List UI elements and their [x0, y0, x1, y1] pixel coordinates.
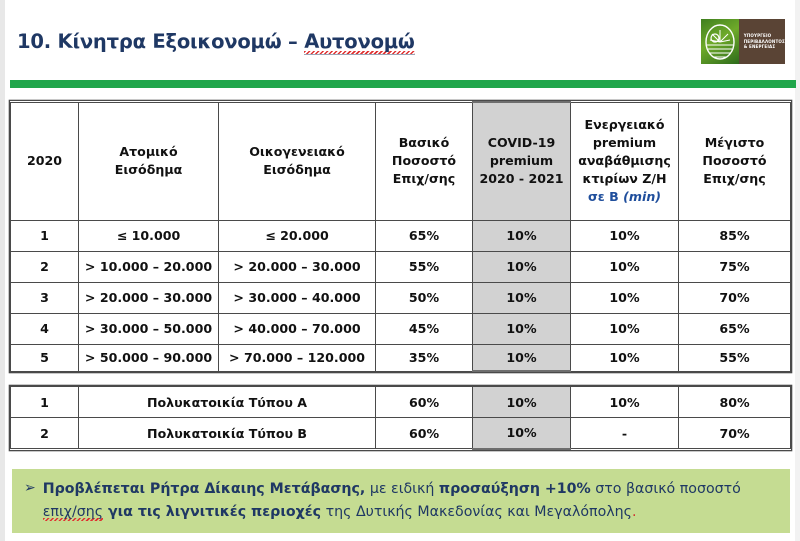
header-covid-premium-l1: COVID-19 [475, 134, 568, 152]
callout-seg-2: με ειδική [365, 481, 439, 497]
cell-individual-income: ≤ 10.000 [79, 220, 219, 251]
cell-base-rate: 35% [376, 344, 473, 371]
cell-family-income: > 40.000 – 70.000 [219, 313, 376, 344]
header-base-rate-l2: Ποσοστό [378, 152, 470, 170]
header-covid-premium-l2: premium [475, 152, 568, 170]
table-block-gap [10, 372, 790, 386]
table-row: 2 > 10.000 – 20.000 > 20.000 – 30.000 55… [11, 251, 791, 282]
ministry-logo: ΥΠΟΥΡΓΕΙΟ ΠΕΡΙΒΑΛΛΟΝΤΟΣ & ΕΝΕΡΓΕΙΑΣ [700, 18, 786, 65]
table-row: 5 > 50.000 – 90.000 > 70.000 – 120.000 3… [11, 344, 791, 371]
header-max-rate-l3: Επιχ/σης [681, 170, 788, 188]
cell-covid-premium: 10% [473, 282, 571, 313]
cell-covid-premium: 10% [473, 251, 571, 282]
header-family-income: Οικογενειακό Εισόδημα [219, 102, 376, 220]
callout-seg-8-period: . [632, 504, 637, 520]
cell-family-income: > 30.000 – 40.000 [219, 282, 376, 313]
callout-seg-7: της Δυτικής Μακεδονίας και Μεγαλόπολης [321, 504, 632, 520]
header-covid-premium-l3: 2020 - 2021 [475, 170, 568, 188]
header-base-rate-l1: Βασικό [378, 134, 470, 152]
cell-building-type: Πολυκατοικία Τύπου Α [79, 387, 376, 418]
callout-text: Προβλέπεται Ρήτρα Δίκαιης Μετάβασης, με … [43, 478, 776, 524]
header-max-rate: Μέγιστο Ποσοστό Επιχ/σης [679, 102, 791, 220]
header-covid-premium: COVID-19 premium 2020 - 2021 [473, 102, 571, 220]
emblem-svg [703, 23, 737, 61]
green-divider-bar [10, 80, 796, 88]
cell-individual-income: > 50.000 – 90.000 [79, 344, 219, 371]
cell-energy-premium: 10% [571, 251, 679, 282]
table-row: 1 ≤ 10.000 ≤ 20.000 65% 10% 10% 85% [11, 220, 791, 251]
cell-individual-income: > 10.000 – 20.000 [79, 251, 219, 282]
cell-energy-premium: - [571, 418, 679, 449]
header-energy-premium-l4: κτιρίων Ζ/Η [573, 170, 676, 188]
cell-energy-premium: 10% [571, 313, 679, 344]
callout-seg-3: προσαύξηση +10% [439, 481, 591, 497]
row-index: 2 [11, 418, 79, 449]
callout-seg-4: στο βασικό ποσοστό [591, 481, 741, 497]
cell-covid-premium: 10% [473, 387, 571, 418]
cell-energy-premium: 10% [571, 220, 679, 251]
header-year: 2020 [11, 102, 79, 220]
cell-max-rate: 80% [679, 387, 791, 418]
row-index: 3 [11, 282, 79, 313]
slide-canvas: 10. Κίνητρα Εξοικονομώ – Αυτονομώ ΥΠΟΥΡΓ… [0, 0, 800, 541]
cell-base-rate: 65% [376, 220, 473, 251]
table-header-row: 2020 Ατομικό Εισόδημα Οικογενειακό Εισόδ… [11, 102, 791, 220]
subsidy-table-wrapper: 2020 Ατομικό Εισόδημα Οικογενειακό Εισόδ… [10, 101, 790, 450]
header-energy-premium-sub-italic: (min) [623, 189, 661, 204]
header-individual-income: Ατομικό Εισόδημα [79, 102, 219, 220]
ministry-emblem-icon [701, 19, 739, 64]
cell-max-rate: 70% [679, 282, 791, 313]
row-index: 1 [11, 387, 79, 418]
header-energy-premium-sub: σε Β (min) [573, 188, 676, 206]
cell-max-rate: 55% [679, 344, 791, 371]
header-individual-income-l2: Εισόδημα [81, 161, 216, 179]
table-row: 2 Πολυκατοικία Τύπου Β 60% 10% - 70% [11, 418, 791, 449]
cell-base-rate: 60% [376, 418, 473, 449]
header-max-rate-l1: Μέγιστο [681, 134, 788, 152]
ministry-line-3: & ΕΝΕΡΓΕΙΑΣ [744, 44, 785, 50]
header-family-income-l2: Εισόδημα [221, 161, 373, 179]
cell-building-type: Πολυκατοικία Τύπου Β [79, 418, 376, 449]
cell-base-rate: 45% [376, 313, 473, 344]
callout-seg-1: Προβλέπεται Ρήτρα Δίκαιης Μετάβασης, [43, 481, 366, 497]
cell-individual-income: > 30.000 – 50.000 [79, 313, 219, 344]
header-max-rate-l2: Ποσοστό [681, 152, 788, 170]
header-energy-premium-sub-bold: σε Β [588, 189, 623, 204]
header-energy-premium: Ενεργειακό premium αναβάθμισης κτιρίων Ζ… [571, 102, 679, 220]
apartment-subsidy-table: 1 Πολυκατοικία Τύπου Α 60% 10% 10% 80% 2… [10, 386, 791, 450]
header-energy-premium-l2: premium [573, 134, 676, 152]
arrow-bullet-icon: ➢ [24, 478, 36, 500]
callout-seg-6: για τις λιγνιτικές περιοχές [103, 504, 321, 520]
header-individual-income-l1: Ατομικό [81, 143, 216, 161]
header-base-rate: Βασικό Ποσοστό Επιχ/σης [376, 102, 473, 220]
page-title-spellchecked-word: Αυτονομώ [304, 30, 414, 55]
slide-header: 10. Κίνητρα Εξοικονομώ – Αυτονομώ ΥΠΟΥΡΓ… [5, 0, 795, 80]
cell-max-rate: 85% [679, 220, 791, 251]
cell-base-rate: 55% [376, 251, 473, 282]
cell-base-rate: 60% [376, 387, 473, 418]
cell-individual-income: > 20.000 – 30.000 [79, 282, 219, 313]
cell-energy-premium: 10% [571, 282, 679, 313]
page-title-prefix: 10. Κίνητρα Εξοικονομώ – [17, 30, 304, 53]
header-family-income-l1: Οικογενειακό [221, 143, 373, 161]
page-title: 10. Κίνητρα Εξοικονομώ – Αυτονομώ [17, 30, 415, 53]
header-base-rate-l3: Επιχ/σης [378, 170, 470, 188]
ministry-logo-text: ΥΠΟΥΡΓΕΙΟ ΠΕΡΙΒΑΛΛΟΝΤΟΣ & ΕΝΕΡΓΕΙΑΣ [739, 19, 785, 64]
cell-covid-premium: 10% [473, 344, 571, 371]
cell-covid-premium: 10% [473, 313, 571, 344]
cell-max-rate: 75% [679, 251, 791, 282]
row-index: 2 [11, 251, 79, 282]
cell-family-income: > 70.000 – 120.000 [219, 344, 376, 371]
income-subsidy-table: 2020 Ατομικό Εισόδημα Οικογενειακό Εισόδ… [10, 101, 791, 372]
callout-seg-5-spellchecked: επιχ/σης [43, 504, 103, 521]
fair-transition-callout: ➢ Προβλέπεται Ρήτρα Δίκαιης Μετάβασης, μ… [12, 469, 790, 533]
cell-energy-premium: 10% [571, 344, 679, 371]
cell-max-rate: 70% [679, 418, 791, 449]
cell-max-rate: 65% [679, 313, 791, 344]
cell-family-income: ≤ 20.000 [219, 220, 376, 251]
cell-covid-premium: 10% [473, 418, 571, 449]
row-index: 4 [11, 313, 79, 344]
cell-energy-premium: 10% [571, 387, 679, 418]
table-row: 1 Πολυκατοικία Τύπου Α 60% 10% 10% 80% [11, 387, 791, 418]
table-row: 4 > 30.000 – 50.000 > 40.000 – 70.000 45… [11, 313, 791, 344]
row-index: 5 [11, 344, 79, 371]
header-energy-premium-l3: αναβάθμισης [573, 152, 676, 170]
cell-covid-premium: 10% [473, 220, 571, 251]
row-index: 1 [11, 220, 79, 251]
cell-base-rate: 50% [376, 282, 473, 313]
header-energy-premium-l1: Ενεργειακό [573, 116, 676, 134]
left-edge-strip [0, 0, 5, 541]
table-row: 3 > 20.000 – 30.000 > 30.000 – 40.000 50… [11, 282, 791, 313]
cell-family-income: > 20.000 – 30.000 [219, 251, 376, 282]
